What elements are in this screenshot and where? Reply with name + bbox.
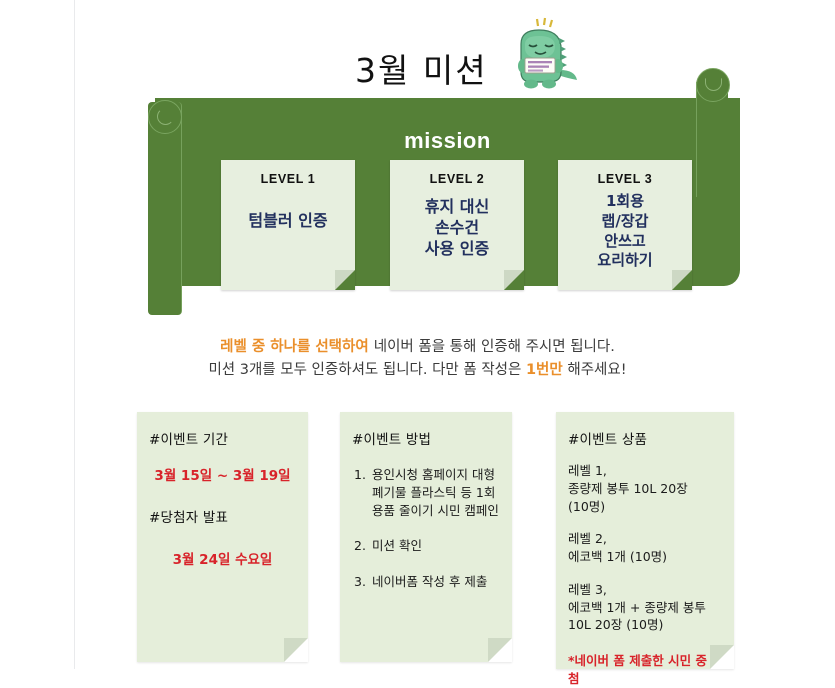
event-method-title: #이벤트 방법 [352,428,512,448]
level-1-label: LEVEL 1 [221,172,355,186]
banner-heading: mission [155,128,740,154]
winner-announce-title: #당첨자 발표 [149,506,308,526]
banner-right-scroll-curl [696,68,730,102]
event-prize-card: #이벤트 상품 레벨 1, 종량제 봉투 10L 20장 (10명) 레벨 2,… [556,412,734,669]
page-fold-corner-icon [488,638,512,662]
prize-group-level-2: 레벨 2, 에코백 1개 (10명) [568,530,726,566]
step-number: 1. [354,466,366,484]
event-prize-title: #이벤트 상품 [568,428,734,448]
prize-group-level-1: 레벨 1, 종량제 봉투 10L 20장 (10명) [568,462,726,515]
event-period-card: #이벤트 기간 3월 15일 ~ 3월 19일 #당첨자 발표 3월 24일 수… [137,412,308,662]
prize-group-level-3: 레벨 3, 에코백 1개 + 종량제 봉투 10L 20장 (10명) [568,581,726,634]
instruction-line-2-part-2: 해주세요! [563,362,627,378]
instruction-line-1: 레벨 중 하나를 선택하여 네이버 폼을 통해 인증해 주시면 됩니다. [0,336,835,359]
instruction-text: 레벨 중 하나를 선택하여 네이버 폼을 통해 인증해 주시면 됩니다. 미션 … [0,336,835,383]
event-period-value: 3월 15일 ~ 3월 19일 [137,464,308,484]
page-fold-corner-icon [672,270,692,290]
event-prize-list: 레벨 1, 종량제 봉투 10L 20장 (10명) 레벨 2, 에코백 1개 … [556,462,734,634]
level-card-2: LEVEL 2 휴지 대신 손수건 사용 인증 [390,160,524,290]
step-text: 미션 확인 [372,538,422,553]
event-period-title: #이벤트 기간 [149,428,308,448]
list-item: 2. 미션 확인 [354,537,502,555]
instruction-line-2-highlight: 1번만 [526,362,563,378]
level-1-text: 텀블러 인증 [221,210,355,231]
event-method-step-list: 1. 용인시청 홈페이지 대형폐기물 플라스틱 등 1회용품 줄이기 시민 캠페… [340,466,512,591]
instruction-line-2: 미션 3개를 모두 인증하셔도 됩니다. 다만 폼 작성은 1번만 해주세요! [0,359,835,382]
list-item: 1. 용인시청 홈페이지 대형폐기물 플라스틱 등 1회용품 줄이기 시민 캠페… [354,466,502,520]
level-2-text: 휴지 대신 손수건 사용 인증 [390,196,524,259]
winner-announce-value: 3월 24일 수요일 [137,548,308,568]
page-fold-corner-icon [710,645,734,669]
step-text: 용인시청 홈페이지 대형폐기물 플라스틱 등 1회용품 줄이기 시민 캠페인 [372,467,499,518]
level-2-label: LEVEL 2 [390,172,524,186]
event-method-card: #이벤트 방법 1. 용인시청 홈페이지 대형폐기물 플라스틱 등 1회용품 줄… [340,412,512,662]
step-number: 3. [354,573,366,591]
mission-banner: mission LEVEL 1 텀블러 인증 LEVEL 2 휴지 대신 손수건… [140,82,740,312]
page-fold-corner-icon [284,638,308,662]
step-number: 2. [354,537,366,555]
instruction-line-2-part-1: 미션 3개를 모두 인증하셔도 됩니다. 다만 폼 작성은 [208,362,526,378]
page-fold-corner-icon [335,270,355,290]
level-3-text: 1회용 랩/장갑 안쓰고 요리하기 [558,192,692,271]
instruction-line-1-normal: 네이버 폼을 통해 인증해 주시면 됩니다. [374,339,615,355]
instruction-line-1-highlight: 레벨 중 하나를 선택하여 [220,339,374,355]
step-text: 네이버폼 작성 후 제출 [372,574,487,589]
level-card-3: LEVEL 3 1회용 랩/장갑 안쓰고 요리하기 [558,160,692,290]
level-3-label: LEVEL 3 [558,172,692,186]
page-fold-corner-icon [504,270,524,290]
level-card-group: LEVEL 1 텀블러 인증 LEVEL 2 휴지 대신 손수건 사용 인증 L… [221,160,721,290]
list-item: 3. 네이버폼 작성 후 제출 [354,573,502,591]
level-card-1: LEVEL 1 텀블러 인증 [221,160,355,290]
